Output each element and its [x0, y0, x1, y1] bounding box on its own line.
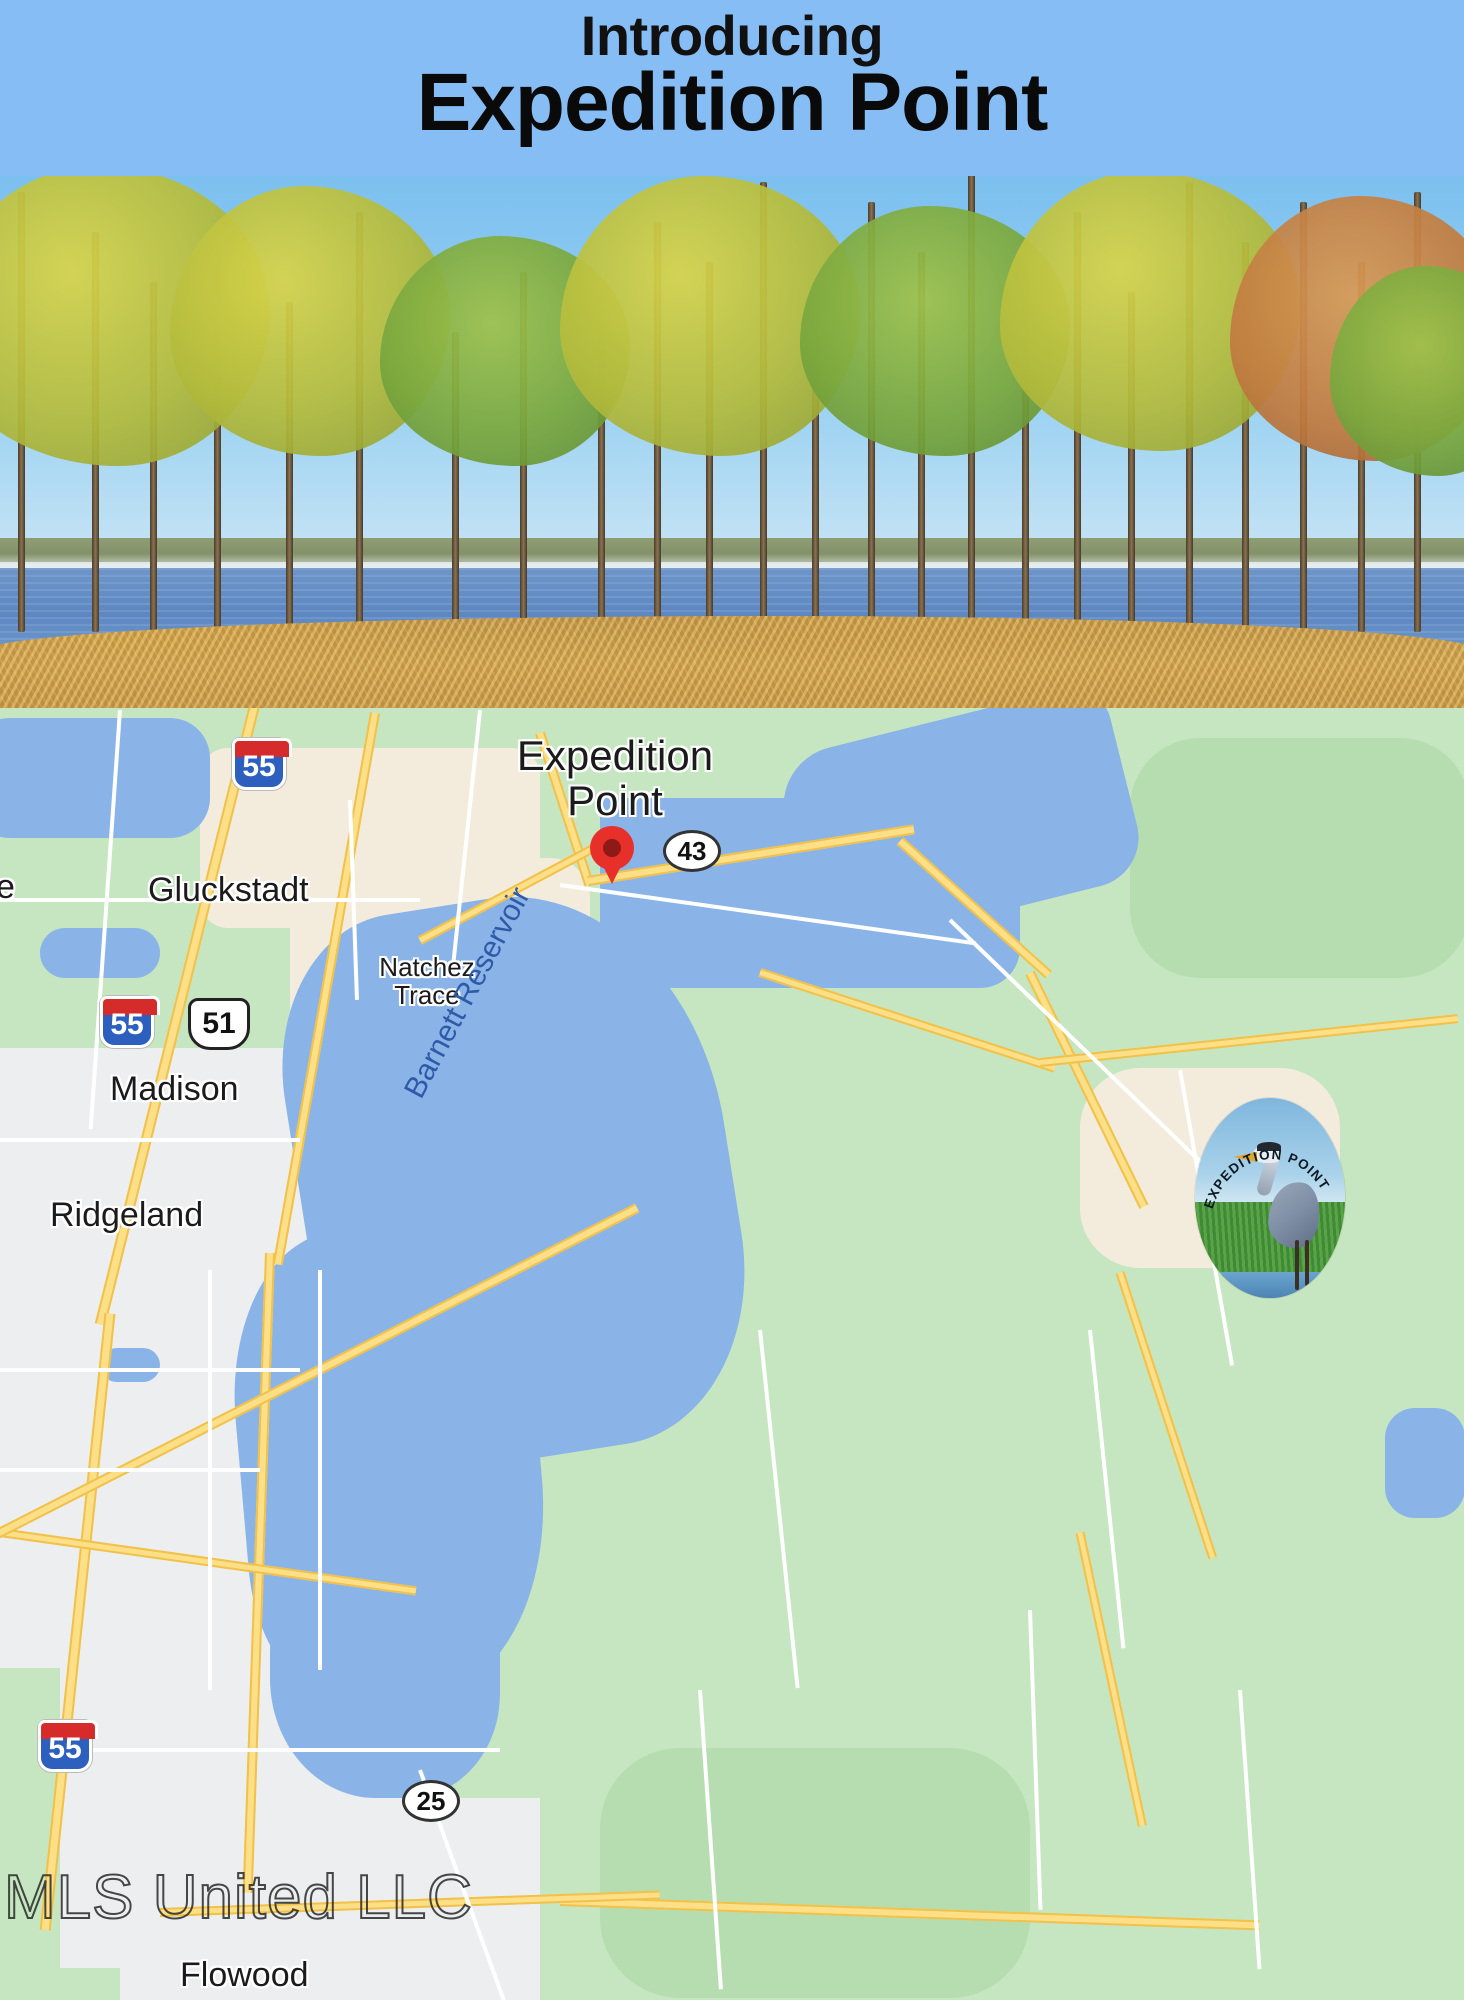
shield-number: 55	[242, 750, 275, 784]
map-label-madison: Madison	[110, 1070, 239, 1109]
shield-number: 51	[202, 1007, 235, 1041]
map-poi-label-expedition-point: Expedition Point	[500, 734, 730, 823]
map-local-road	[758, 1330, 800, 1688]
map-local-road	[0, 1468, 260, 1472]
shield-number: 55	[110, 1008, 143, 1042]
map-forest-area	[600, 1748, 1030, 1998]
photo-cleared-dirt-lot	[0, 616, 1464, 708]
map-lake-small	[1385, 1408, 1464, 1518]
map-local-road	[208, 1270, 212, 1690]
map-connector-road	[1040, 1014, 1459, 1067]
map-local-road	[0, 1138, 300, 1142]
property-photo	[0, 176, 1464, 708]
map-label-partial-city: e	[0, 868, 15, 907]
shield-number: 25	[417, 1786, 446, 1817]
map-connector-road	[1116, 1271, 1217, 1559]
shield-state-25: 25	[402, 1780, 460, 1822]
shield-interstate-55: 55	[38, 1720, 92, 1772]
map-local-road	[0, 1368, 300, 1372]
shield-interstate-55: 55	[232, 738, 286, 790]
logo-arc-label: EXPEDITION POINT	[1201, 1147, 1332, 1210]
logo-arc-text: EXPEDITION POINT	[1195, 1098, 1345, 1298]
shield-us-51: 51	[188, 998, 250, 1050]
page-title: Expedition Point	[417, 62, 1048, 144]
shield-state-43: 43	[663, 830, 721, 872]
map-connector-road	[1076, 1532, 1147, 1827]
shield-interstate-55: 55	[100, 996, 154, 1048]
map-label-gluckstadt: Gluckstadt	[148, 871, 309, 910]
map-local-road	[60, 1748, 500, 1752]
pin-head	[590, 826, 634, 870]
location-map[interactable]: 55 55 55 51 43 25 Expedition Point e Glu…	[0, 708, 1464, 2000]
mls-watermark: MLS United LLC	[4, 1862, 473, 1933]
map-forest-area	[1130, 738, 1464, 978]
shield-number: 55	[48, 1732, 81, 1766]
expedition-point-logo-badge: EXPEDITION POINT	[1195, 1098, 1345, 1298]
map-barnett-reservoir	[771, 708, 1149, 956]
map-local-road	[1028, 1610, 1042, 1910]
map-local-road	[318, 1270, 322, 1670]
flyer-root: Introducing Expedition Point	[0, 0, 1464, 2000]
map-label-ridgeland: Ridgeland	[50, 1196, 203, 1235]
shield-number: 43	[678, 836, 707, 867]
map-lake-small	[0, 718, 210, 838]
map-label-flowood: Flowood	[180, 1956, 309, 1995]
header-banner: Introducing Expedition Point	[0, 0, 1464, 176]
map-location-pin[interactable]	[590, 826, 634, 884]
